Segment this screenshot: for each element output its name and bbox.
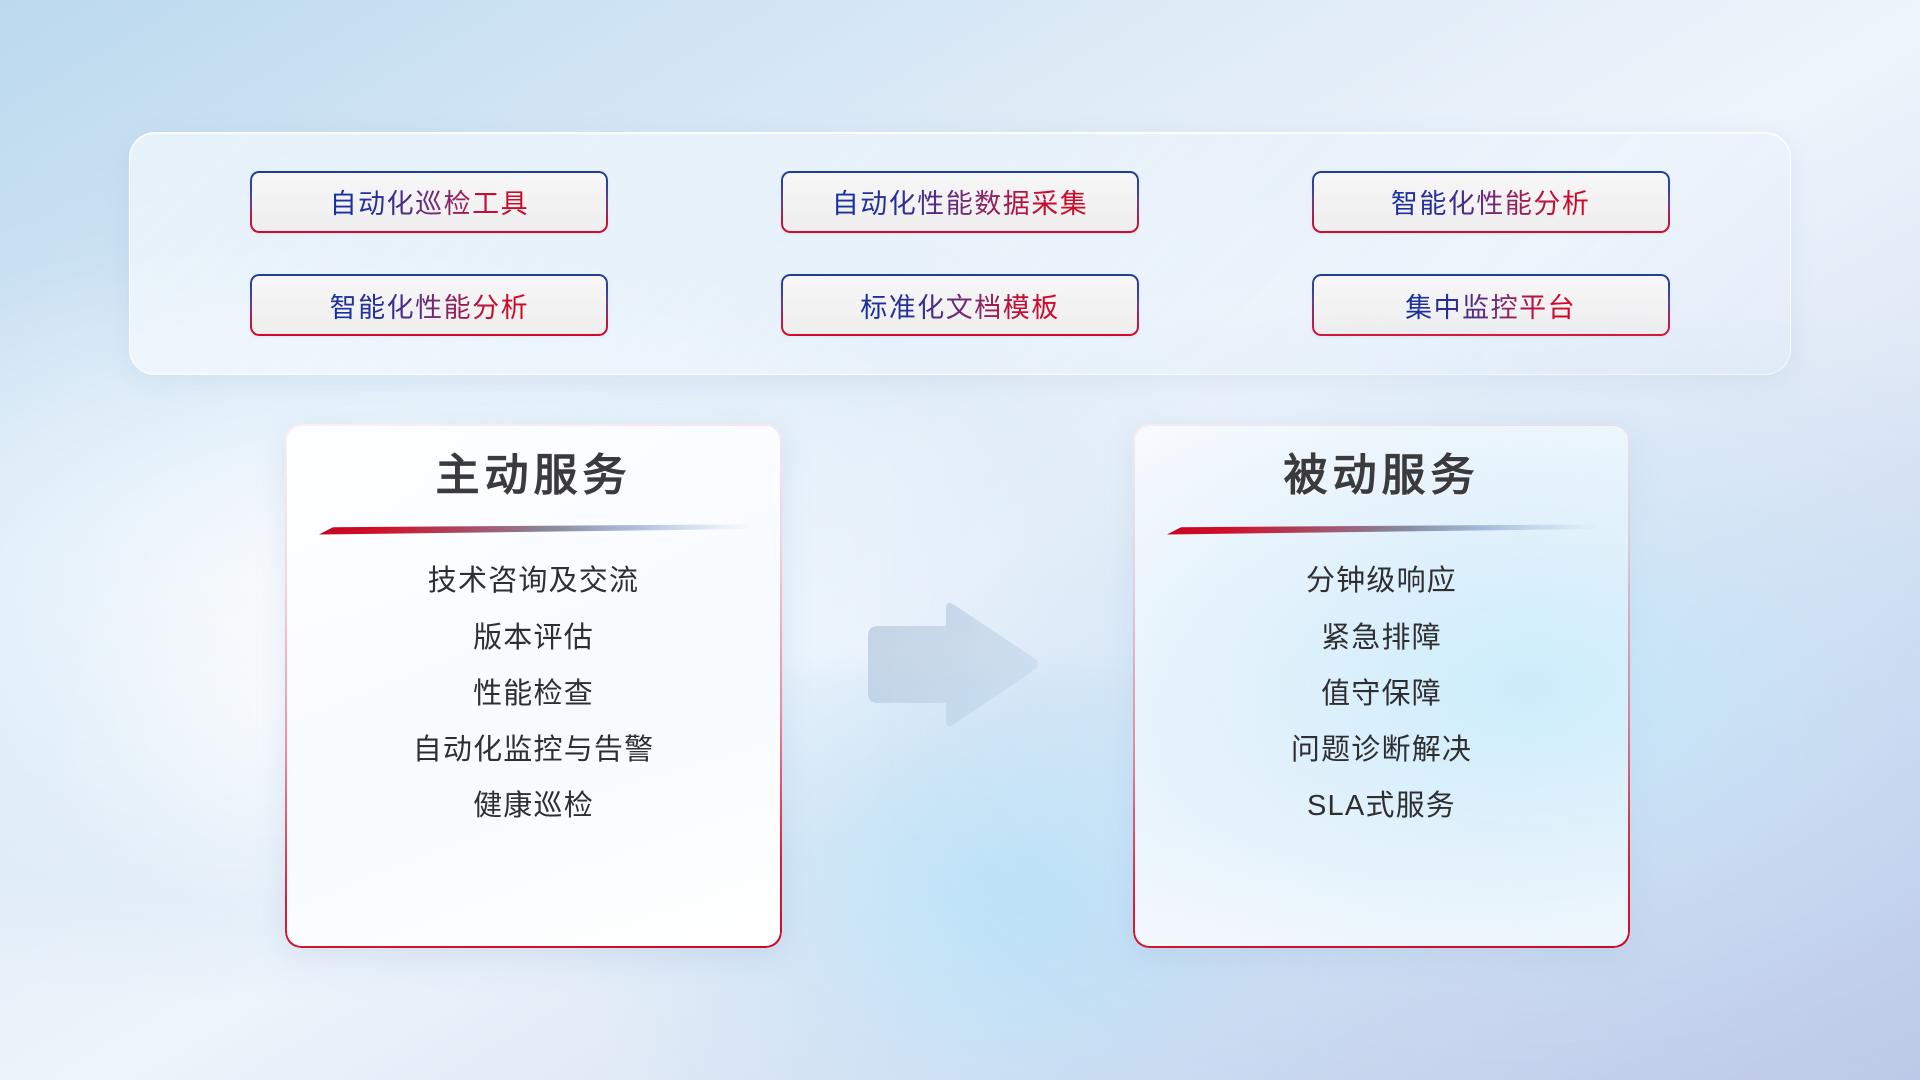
service-card-title: 主动服务 (436, 452, 632, 500)
title-divider (1167, 524, 1597, 536)
capability-tag-label: 集中监控平台 (1405, 286, 1576, 325)
service-item: 值守保障 (1321, 675, 1442, 714)
capability-tag-label: 标准化文档模板 (860, 286, 1060, 325)
service-item-list: 分钟级响应 紧急排障 值守保障 问题诊断解决 SLA式服务 (1133, 562, 1630, 826)
capability-tag[interactable]: 智能化性能分析 (1312, 171, 1670, 233)
capability-tag[interactable]: 智能化性能分析 (250, 274, 608, 336)
service-item-list: 技术咨询及交流 版本评估 性能检查 自动化监控与告警 健康巡检 (285, 562, 782, 826)
capability-tag-label: 智能化性能分析 (330, 286, 530, 325)
service-item: SLA式服务 (1307, 787, 1456, 826)
capability-tag-label: 智能化性能分析 (1391, 182, 1591, 221)
service-card-title: 被动服务 (1284, 452, 1480, 500)
service-card-reactive[interactable]: 被动服务 (1133, 424, 1630, 948)
capability-panel: 自动化巡检工具 自动化性能数据采集 智能化性能分析 智能化性能分析 标准化文档模… (129, 132, 1791, 375)
capability-tag[interactable]: 自动化性能数据采集 (781, 171, 1139, 233)
service-item: 自动化监控与告警 (413, 731, 655, 770)
service-item: 健康巡检 (473, 787, 594, 826)
service-item: 分钟级响应 (1306, 562, 1457, 601)
service-item: 紧急排障 (1321, 619, 1442, 658)
capability-tag-label: 自动化巡检工具 (330, 182, 530, 221)
service-item: 技术咨询及交流 (428, 562, 639, 601)
service-item: 版本评估 (473, 619, 594, 658)
service-item: 问题诊断解决 (1291, 731, 1472, 770)
title-divider (319, 524, 749, 536)
service-item: 性能检查 (473, 675, 594, 714)
service-card-proactive[interactable]: 主动服务 (285, 424, 782, 948)
capability-tag-label: 自动化性能数据采集 (832, 182, 1089, 221)
capability-tag[interactable]: 自动化巡检工具 (250, 171, 608, 233)
arrow-right-icon (862, 600, 1042, 730)
slide-canvas: 自动化巡检工具 自动化性能数据采集 智能化性能分析 智能化性能分析 标准化文档模… (0, 0, 1920, 1080)
capability-tag[interactable]: 标准化文档模板 (781, 274, 1139, 336)
capability-tag[interactable]: 集中监控平台 (1312, 274, 1670, 336)
